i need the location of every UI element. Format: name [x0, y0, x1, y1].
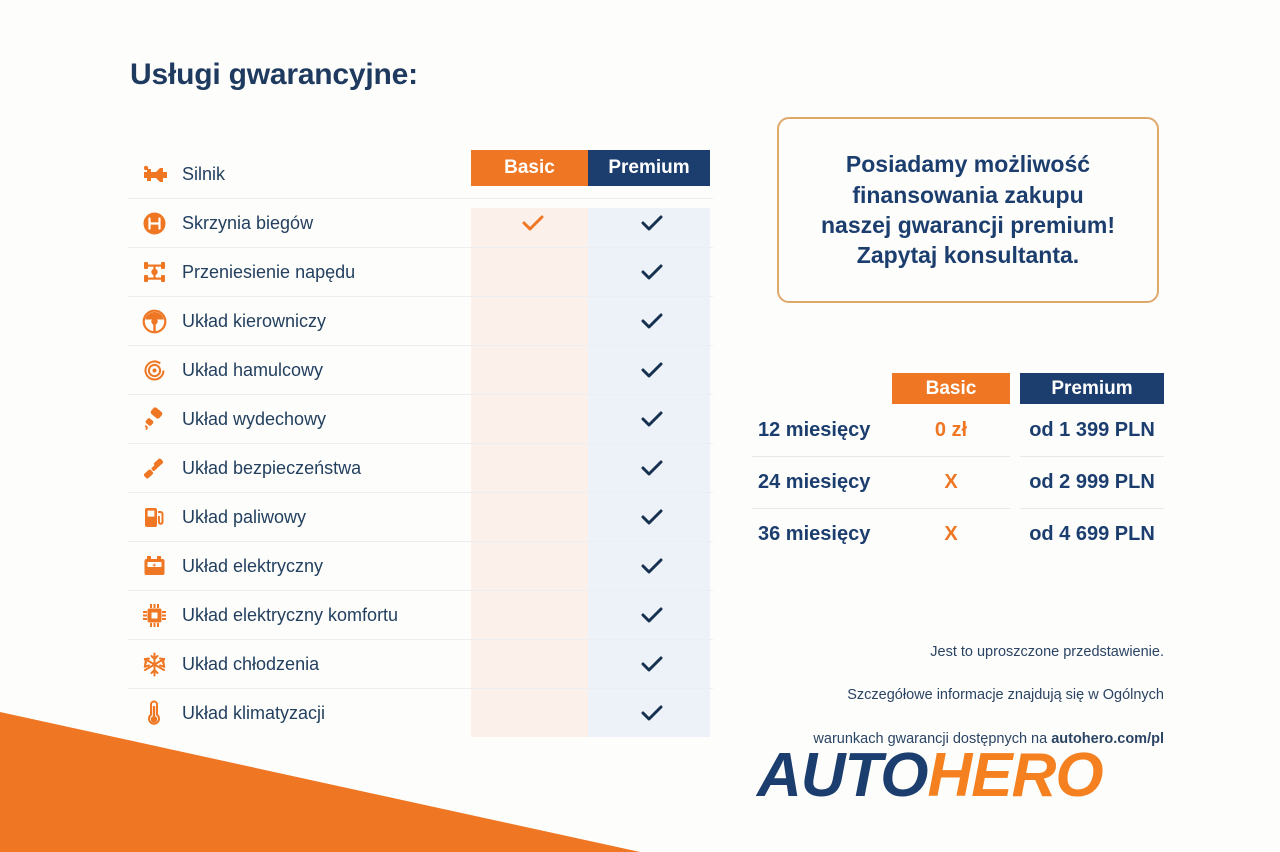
gearbox-icon — [128, 211, 180, 236]
financing-promo-text: Posiadamy możliwość finansowania zakupu … — [803, 149, 1133, 270]
premium-check-cell — [591, 248, 713, 296]
table-row: Układ chłodzenia — [128, 639, 713, 688]
basic-check-cell — [474, 297, 591, 345]
service-label: Układ klimatyzacji — [180, 703, 474, 724]
basic-check-cell — [474, 640, 591, 688]
pricing-header-gap — [1010, 373, 1020, 404]
pricing-row: 36 miesięcy X od 4 699 PLN — [752, 508, 1164, 560]
warranty-table: Basic Premium Silnik — [128, 150, 713, 737]
engine-icon — [128, 162, 180, 186]
pricing-header-spacer — [752, 373, 892, 404]
table-row: Układ elektryczny — [128, 541, 713, 590]
pricing-column-headers: Basic Premium — [752, 373, 1164, 404]
pricing-basic-value: 0 zł — [892, 419, 1010, 442]
pricing-term: 12 miesięcy — [752, 419, 892, 442]
pricing-table: Basic Premium 12 miesięcy 0 zł od 1 399 … — [752, 373, 1164, 560]
premium-check-cell — [591, 444, 713, 492]
pricing-premium-value: od 1 399 PLN — [1020, 419, 1164, 442]
disclaimer-line-2: Szczegółowe informacje znajdują się w Og… — [700, 685, 1164, 707]
service-label: Układ kierowniczy — [180, 311, 474, 332]
service-label: Układ elektryczny komfortu — [180, 605, 474, 626]
chip-icon — [128, 603, 180, 628]
logo-auto-text: AUTO — [757, 741, 928, 810]
basic-check-cell — [474, 591, 591, 639]
table-row: Układ bezpieczeństwa — [128, 443, 713, 492]
service-label: Układ wydechowy — [180, 409, 474, 430]
pricing-premium-value: od 2 999 PLN — [1020, 456, 1164, 508]
table-row: Układ wydechowy — [128, 394, 713, 443]
basic-check-cell — [474, 444, 591, 492]
column-header-premium: Premium — [588, 150, 710, 186]
service-label: Układ elektryczny — [180, 556, 474, 577]
basic-check-cell — [474, 542, 591, 590]
service-label: Układ chłodzenia — [180, 654, 474, 675]
table-row: Przeniesienie napędu — [128, 247, 713, 296]
service-label: Skrzynia biegów — [180, 213, 474, 234]
financing-promo-box: Posiadamy możliwość finansowania zakupu … — [777, 117, 1159, 303]
thermometer-icon — [128, 700, 180, 726]
battery-icon — [128, 554, 180, 578]
basic-check-cell — [474, 248, 591, 296]
autohero-logo: AUTOHERO — [757, 745, 1103, 807]
fuel-pump-icon — [128, 505, 180, 530]
pricing-term: 24 miesięcy — [752, 456, 892, 508]
snowflake-icon — [128, 652, 180, 677]
basic-check-cell — [474, 493, 591, 541]
pricing-basic-value: X — [892, 508, 1010, 560]
basic-check-cell — [474, 689, 591, 737]
exhaust-pipe-icon — [128, 407, 180, 432]
disclaimer-line-1: Jest to uproszczone przedstawienie. — [700, 642, 1164, 664]
service-label: Układ hamulcowy — [180, 360, 474, 381]
pricing-term: 36 miesięcy — [752, 508, 892, 560]
service-label: Przeniesienie napędu — [180, 262, 474, 283]
pricing-row: 12 miesięcy 0 zł od 1 399 PLN — [752, 404, 1164, 456]
logo-hero-text: HERO — [928, 741, 1103, 810]
warranty-services-infographic: Usługi gwarancyjne: Basic Premium — [0, 0, 1280, 852]
premium-check-cell — [591, 689, 713, 737]
steering-wheel-icon — [128, 309, 180, 334]
pricing-premium-value: od 4 699 PLN — [1020, 508, 1164, 560]
table-row: Układ klimatyzacji — [128, 688, 713, 737]
pricing-basic-value: X — [892, 456, 1010, 508]
page-title: Usługi gwarancyjne: — [130, 58, 713, 92]
basic-check-cell — [474, 346, 591, 394]
basic-check-cell — [474, 395, 591, 443]
pricing-header-premium: Premium — [1020, 373, 1164, 404]
drivetrain-axle-icon — [128, 260, 180, 284]
table-row: Układ paliwowy — [128, 492, 713, 541]
table-row: Układ hamulcowy — [128, 345, 713, 394]
table-row: Układ elektryczny komfortu — [128, 590, 713, 639]
premium-check-cell — [591, 346, 713, 394]
warranty-row-list: Silnik Skrzyni — [128, 150, 713, 737]
pricing-row: 24 miesięcy X od 2 999 PLN — [752, 456, 1164, 508]
premium-check-cell — [591, 591, 713, 639]
service-label: Silnik — [180, 164, 474, 185]
seatbelt-icon — [128, 456, 180, 481]
basic-check-cell — [474, 199, 591, 247]
warranty-table-section: Usługi gwarancyjne: Basic Premium — [128, 58, 713, 737]
premium-check-cell — [591, 640, 713, 688]
pricing-header-basic: Basic — [892, 373, 1010, 404]
column-header-basic: Basic — [471, 150, 588, 186]
premium-check-cell — [591, 493, 713, 541]
service-label: Układ paliwowy — [180, 507, 474, 528]
premium-check-cell — [591, 395, 713, 443]
premium-check-cell — [591, 542, 713, 590]
warranty-column-headers: Basic Premium — [471, 150, 710, 186]
brake-disc-icon — [128, 358, 180, 383]
service-label: Układ bezpieczeństwa — [180, 458, 474, 479]
table-row: Układ kierowniczy — [128, 296, 713, 345]
premium-check-cell — [591, 297, 713, 345]
table-row: Skrzynia biegów — [128, 198, 713, 247]
premium-check-cell — [591, 199, 713, 247]
